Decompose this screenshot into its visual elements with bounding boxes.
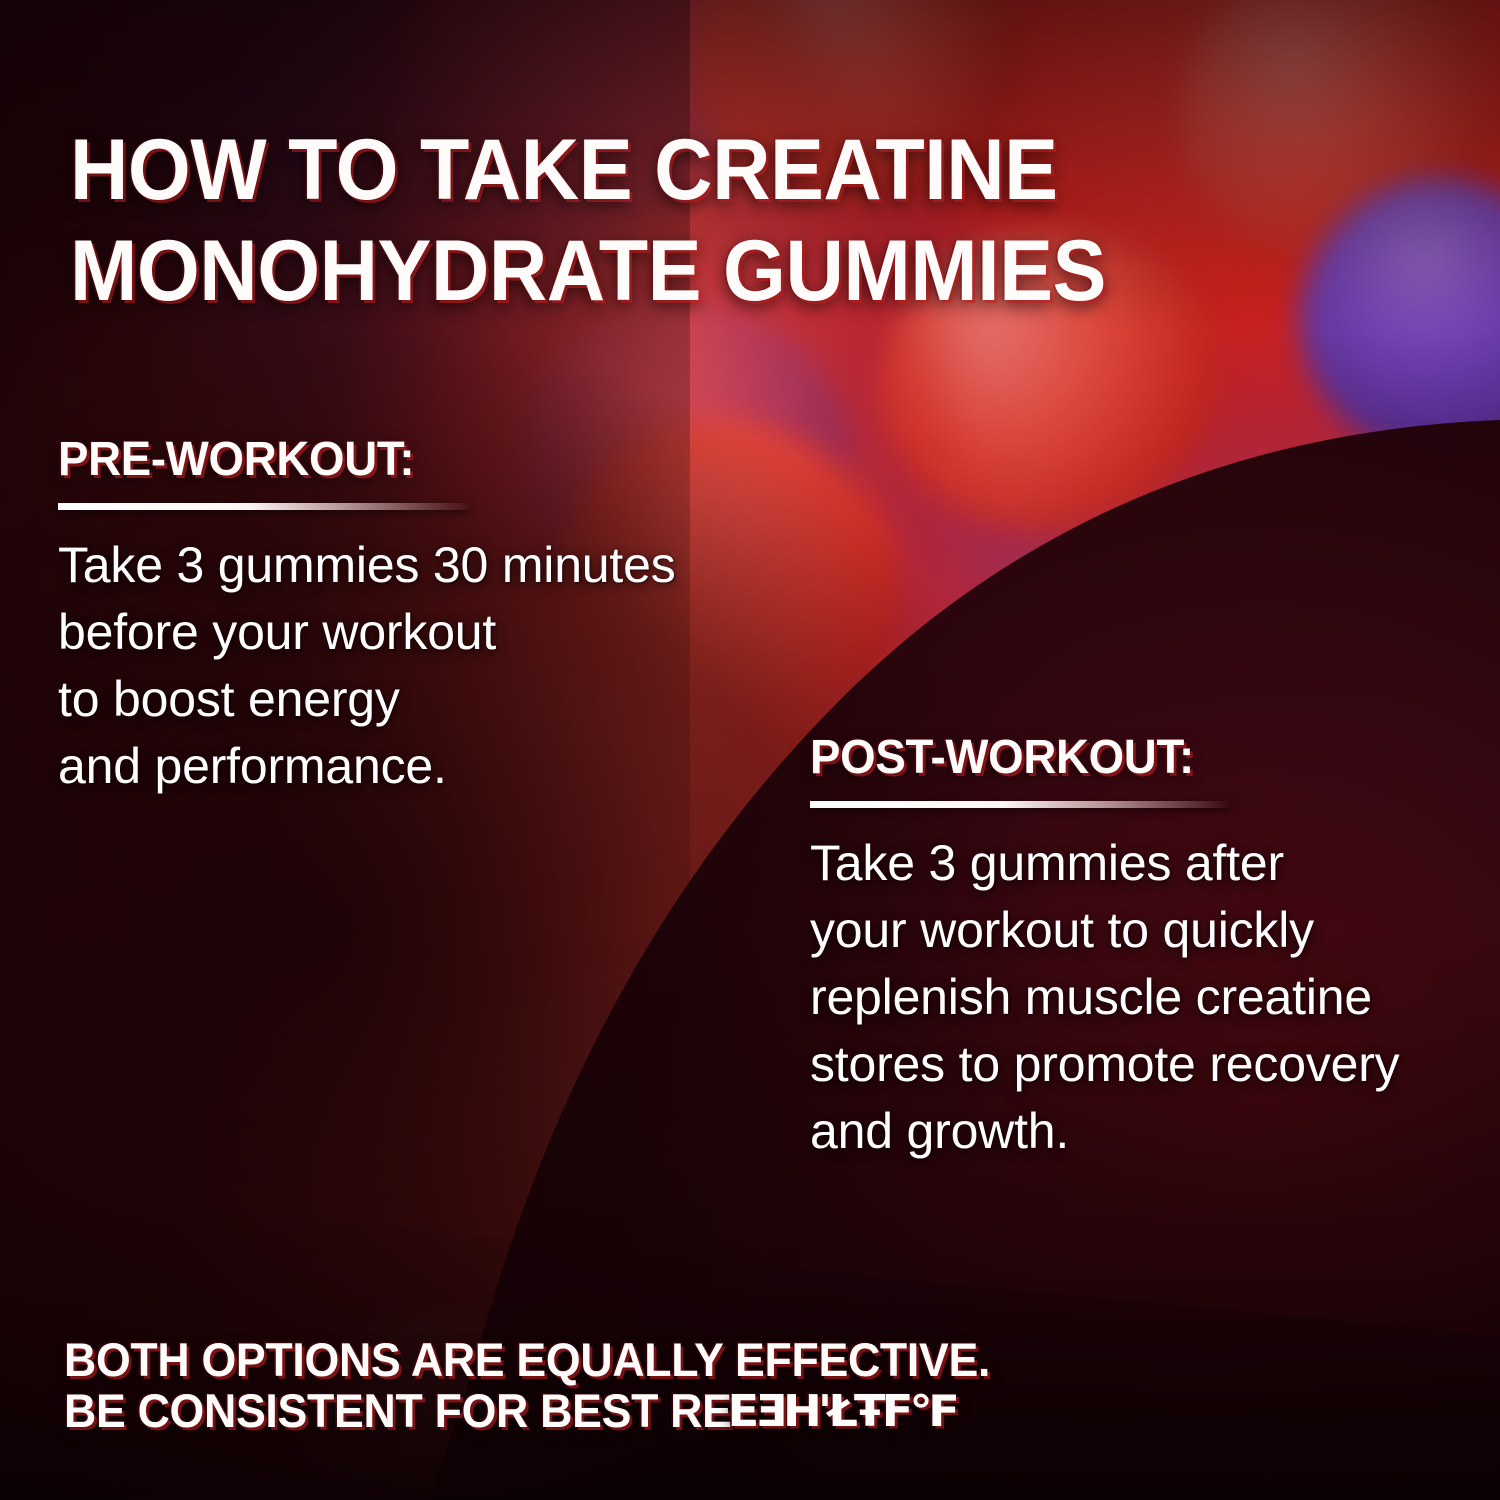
title-line-1: HOW TO TAKE CREATINE bbox=[70, 120, 1377, 221]
footer-line-1: BOTH OPTIONS ARE EQUALLY EFFECTIVE. bbox=[64, 1334, 990, 1386]
post-workout-heading: POST-WORKOUT: bbox=[810, 730, 1437, 785]
pre-body-line-3: to boost energy bbox=[58, 666, 818, 733]
footer-line-2: BE CONSISTENT FOR BEST REEƎH'ŁŦF℉ bbox=[64, 1385, 990, 1438]
pre-workout-heading: PRE-WORKOUT: bbox=[58, 432, 780, 487]
post-body-line-1: Take 3 gummies after bbox=[810, 830, 1470, 897]
pre-workout-body: Take 3 gummies 30 minutes before your wo… bbox=[58, 532, 818, 800]
footer-garbled-glyphs: EƎH'ŁŦF℉ bbox=[727, 1388, 956, 1436]
pre-body-line-1: Take 3 gummies 30 minutes bbox=[58, 532, 818, 599]
section-post-workout: POST-WORKOUT: Take 3 gummies after your … bbox=[810, 730, 1470, 1165]
pre-body-line-2: before your workout bbox=[58, 599, 818, 666]
page-title: HOW TO TAKE CREATINE MONOHYDRATE GUMMIES bbox=[70, 120, 1377, 323]
post-body-line-4: stores to promote recovery bbox=[810, 1031, 1470, 1098]
post-workout-underline bbox=[810, 801, 1230, 808]
footer-line-2-text: BE CONSISTENT FOR BEST RE bbox=[64, 1384, 732, 1437]
post-body-line-3: replenish muscle creatine bbox=[810, 964, 1470, 1031]
poster-content: HOW TO TAKE CREATINE MONOHYDRATE GUMMIES… bbox=[0, 0, 1500, 1500]
footer-callout: BOTH OPTIONS ARE EQUALLY EFFECTIVE. BE C… bbox=[64, 1334, 990, 1438]
poster-canvas: HOW TO TAKE CREATINE MONOHYDRATE GUMMIES… bbox=[0, 0, 1500, 1500]
post-workout-body: Take 3 gummies after your workout to qui… bbox=[810, 830, 1470, 1165]
section-pre-workout: PRE-WORKOUT: Take 3 gummies 30 minutes b… bbox=[58, 432, 818, 800]
pre-workout-underline bbox=[58, 503, 470, 510]
pre-body-line-4: and performance. bbox=[58, 733, 818, 800]
post-body-line-2: your workout to quickly bbox=[810, 897, 1470, 964]
title-line-2: MONOHYDRATE GUMMIES bbox=[70, 221, 1377, 322]
post-body-line-5: and growth. bbox=[810, 1098, 1470, 1165]
